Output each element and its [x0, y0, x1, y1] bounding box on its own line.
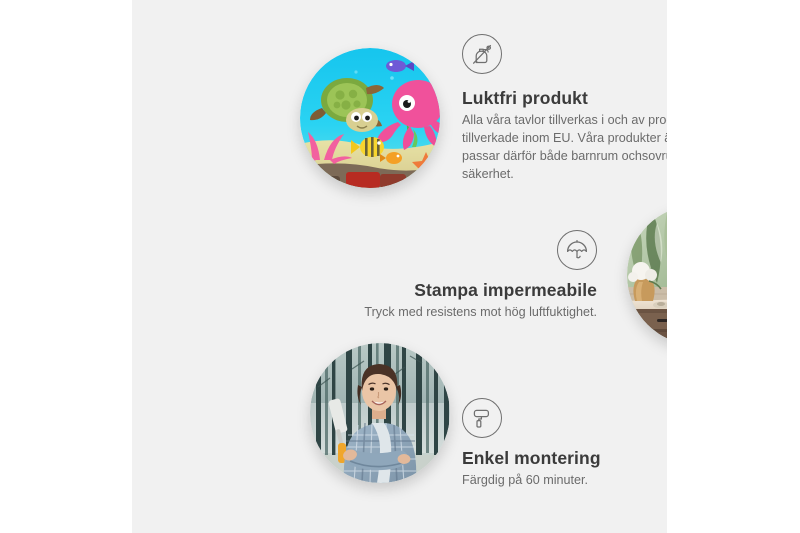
feature-title: Luktfri produkt [462, 88, 667, 109]
umbrella-icon [557, 230, 597, 270]
underwater-kids-mural-photo [300, 48, 440, 188]
bathroom-tropical-wallpaper-photo [627, 205, 667, 345]
feature-title: Stampa impermeabile [292, 280, 597, 301]
product-features-panel: Luktfri produkt Alla våra tavlor tillver… [0, 0, 800, 533]
feature-easy-mounting: Enkel montering Färgdig på 60 minuter. [462, 398, 667, 490]
feature-body: Tryck med resistens mot hög luftfuktighe… [292, 304, 597, 322]
no-fragrance-icon [462, 34, 502, 74]
woman-with-paint-roller-forest-photo [310, 343, 450, 483]
feature-body: Alla våra tavlor tillverkas i och av pro… [462, 112, 667, 184]
feature-odor-free: Luktfri produkt Alla våra tavlor tillver… [462, 34, 667, 184]
feature-waterproof-print: Stampa impermeabile Tryck med resistens … [292, 230, 597, 322]
feature-body: Färgdig på 60 minuter. [462, 472, 667, 490]
paint-roller-icon [462, 398, 502, 438]
panel-background: Luktfri produkt Alla våra tavlor tillver… [132, 0, 667, 533]
feature-title: Enkel montering [462, 448, 667, 469]
